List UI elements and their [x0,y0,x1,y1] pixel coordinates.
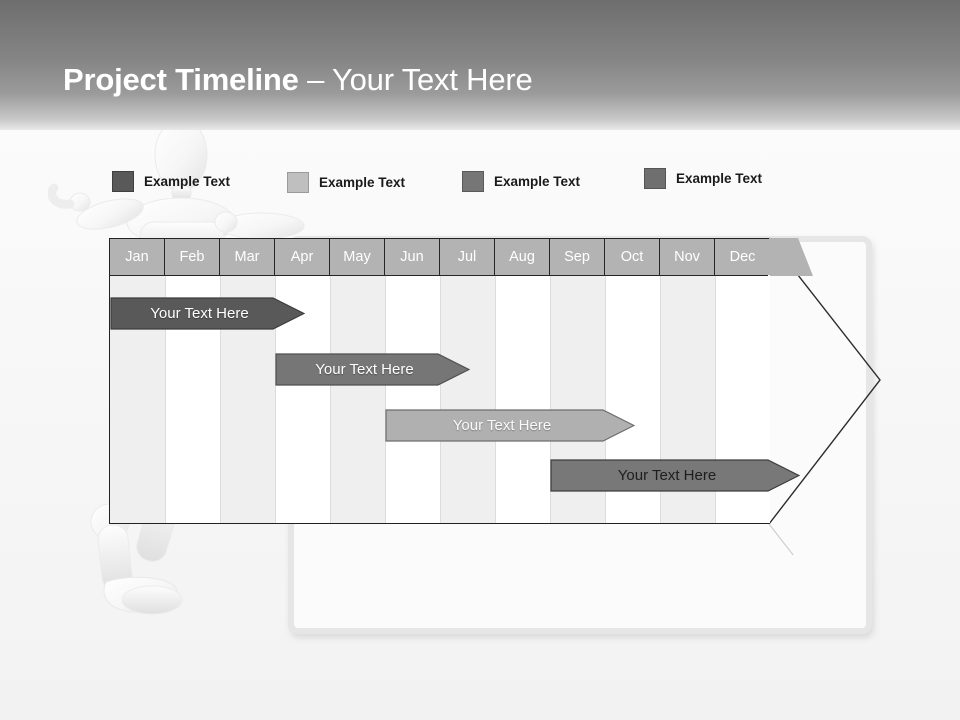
timeline-bar[interactable]: Your Text Here [110,297,305,330]
legend-swatch-icon [112,171,134,192]
legend-item-label: Example Text [494,174,580,189]
legend-item: Example Text [644,168,762,189]
timeline-bar-label: Your Text Here [315,361,429,378]
month-header-jan[interactable]: Jan [110,239,165,275]
timeline-bar[interactable]: Your Text Here [275,353,470,386]
timeline-column [220,239,275,523]
month-header-jul[interactable]: Jul [440,239,495,275]
page-title-light: – Your Text Here [299,62,533,97]
month-header-dec[interactable]: Dec [715,239,770,275]
timeline-column [110,239,165,523]
legend-item-label: Example Text [144,174,230,189]
legend-item: Example Text [112,171,230,192]
month-header-jun[interactable]: Jun [385,239,440,275]
header-underline [110,275,768,276]
timeline-grid: JanFebMarAprMayJunJulAugSepOctNovDec You… [109,238,769,524]
timeline-column [495,239,550,523]
month-header-sep[interactable]: Sep [550,239,605,275]
page-title-bold: Project Timeline [63,62,299,97]
page-title: Project Timeline – Your Text Here [63,58,533,102]
arrowhead-header-fill [768,238,813,276]
legend-swatch-icon [462,171,484,192]
month-header-may[interactable]: May [330,239,385,275]
column-divider [330,275,331,523]
legend-swatch-icon [287,172,309,193]
timeline-bar-label: Your Text Here [618,467,732,484]
timeline-column [165,239,220,523]
month-header-mar[interactable]: Mar [220,239,275,275]
legend-item: Example Text [287,172,405,193]
legend-item-label: Example Text [319,175,405,190]
month-header-nov[interactable]: Nov [660,239,715,275]
legend: Example TextExample TextExample TextExam… [112,168,812,198]
column-divider [385,275,386,523]
month-header-apr[interactable]: Apr [275,239,330,275]
month-header-oct[interactable]: Oct [605,239,660,275]
column-divider [440,275,441,523]
legend-item-label: Example Text [676,171,762,186]
timeline-bar[interactable]: Your Text Here [385,409,635,442]
timeline-bar-label: Your Text Here [453,417,567,434]
timeline-bar-label: Your Text Here [150,305,264,322]
timeline-bar[interactable]: Your Text Here [550,459,800,492]
month-header-aug[interactable]: Aug [495,239,550,275]
legend-item: Example Text [462,171,580,192]
column-divider [495,275,496,523]
month-header-feb[interactable]: Feb [165,239,220,275]
slide-canvas: Project Timeline – Your Text Here Exampl… [0,0,960,720]
legend-swatch-icon [644,168,666,189]
